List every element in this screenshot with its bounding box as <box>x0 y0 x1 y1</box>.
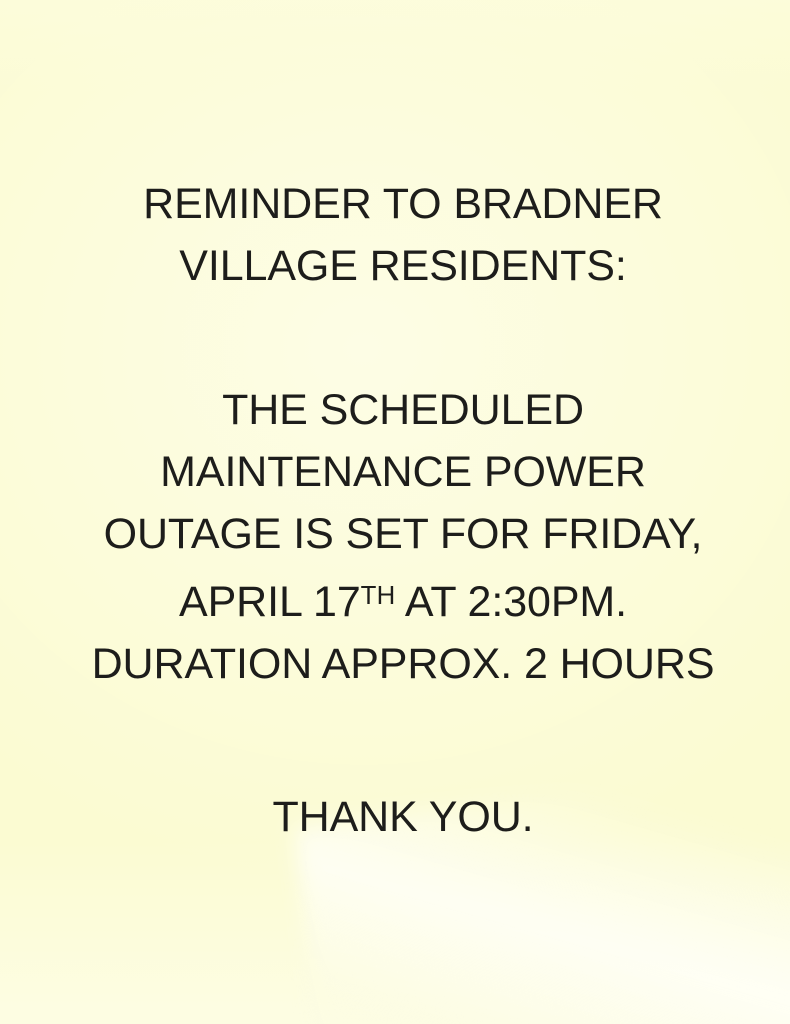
body-duration-line: DURATION APPROX. 2 HOURS <box>16 633 790 695</box>
date-text-before: APRIL 17 <box>179 578 361 626</box>
date-text-after: AT 2:30PM. <box>395 578 627 626</box>
notice-heading: REMINDER TO BRADNER VILLAGE RESIDENTS: <box>0 173 790 297</box>
body-line-2: MAINTENANCE POWER <box>16 441 790 503</box>
closing-line: THANK YOU. <box>16 786 790 848</box>
heading-line-2: VILLAGE RESIDENTS: <box>16 235 790 297</box>
date-ordinal-suffix: TH <box>361 582 396 610</box>
notice-sheet: REMINDER TO BRADNER VILLAGE RESIDENTS: T… <box>0 0 790 1024</box>
notice-closing: THANK YOU. <box>0 786 790 848</box>
heading-line-1: REMINDER TO BRADNER <box>16 173 790 235</box>
notice-body: THE SCHEDULED MAINTENANCE POWER OUTAGE I… <box>0 379 790 695</box>
body-line-1: THE SCHEDULED <box>16 379 790 441</box>
body-line-3: OUTAGE IS SET FOR FRIDAY, <box>16 503 790 565</box>
body-date-line: APRIL 17TH AT 2:30PM. <box>16 565 790 633</box>
